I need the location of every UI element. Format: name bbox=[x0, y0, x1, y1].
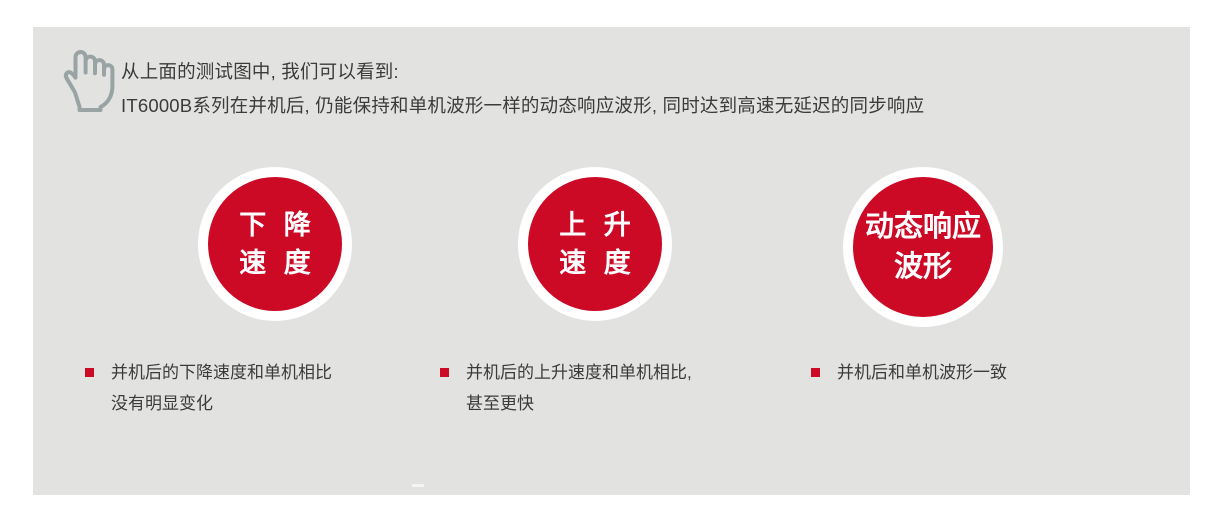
divider-dash bbox=[412, 484, 424, 487]
list-item: 并机后和单机波形一致 bbox=[811, 357, 1141, 388]
slide-canvas: 从上面的测试图中, 我们可以看到: IT6000B系列在并机后, 仍能保持和单机… bbox=[0, 0, 1227, 531]
circle-badge-fill: 动态响应 波形 bbox=[853, 177, 993, 317]
bullet-line-2: 没有明显变化 bbox=[111, 388, 332, 419]
intro-text: 从上面的测试图中, 我们可以看到: IT6000B系列在并机后, 仍能保持和单机… bbox=[121, 55, 1161, 123]
content-panel: 从上面的测试图中, 我们可以看到: IT6000B系列在并机后, 仍能保持和单机… bbox=[33, 27, 1190, 495]
bullet-square-icon bbox=[811, 368, 820, 377]
bullet-line-2: 甚至更快 bbox=[466, 388, 692, 419]
intro-line-1: 从上面的测试图中, 我们可以看到: bbox=[121, 55, 1161, 89]
circle-badge-fill: 下 降 速 度 bbox=[208, 177, 342, 311]
intro-block: 从上面的测试图中, 我们可以看到: IT6000B系列在并机后, 仍能保持和单机… bbox=[33, 27, 1190, 172]
circle-badge-fill: 上 升 速 度 bbox=[528, 177, 662, 311]
circle-badge-line-2: 速 度 bbox=[234, 244, 316, 282]
bullet-line-1: 并机后的下降速度和单机相比 bbox=[111, 363, 332, 382]
circle-badges: 下 降 速 度 上 升 速 度 动态响应 波形 bbox=[33, 167, 1190, 347]
bullet-column-3: 并机后和单机波形一致 bbox=[811, 357, 1141, 388]
circle-badge-dynamic-response-waveform: 动态响应 波形 bbox=[843, 167, 1003, 327]
bullet-text: 并机后和单机波形一致 bbox=[837, 357, 1007, 388]
bullet-column-1: 并机后的下降速度和单机相比 没有明显变化 bbox=[85, 357, 415, 419]
bullet-text: 并机后的下降速度和单机相比 没有明显变化 bbox=[111, 357, 332, 419]
bullet-column-2: 并机后的上升速度和单机相比, 甚至更快 bbox=[440, 357, 770, 419]
circle-badge-descent-speed: 下 降 速 度 bbox=[198, 167, 352, 321]
intro-line-2: IT6000B系列在并机后, 仍能保持和单机波形一样的动态响应波形, 同时达到高… bbox=[121, 89, 1161, 123]
bullet-square-icon bbox=[85, 368, 94, 377]
circle-badge-line-1: 下 降 bbox=[234, 206, 316, 244]
circle-badge-line-2: 波形 bbox=[894, 247, 952, 287]
bullet-line-1: 并机后和单机波形一致 bbox=[837, 363, 1007, 382]
pointing-hand-icon bbox=[60, 48, 118, 112]
circle-badge-line-2: 速 度 bbox=[554, 244, 636, 282]
bullet-text: 并机后的上升速度和单机相比, 甚至更快 bbox=[466, 357, 692, 419]
list-item: 并机后的下降速度和单机相比 没有明显变化 bbox=[85, 357, 415, 419]
bullet-line-1: 并机后的上升速度和单机相比, bbox=[466, 363, 692, 382]
circle-badge-line-1: 上 升 bbox=[554, 206, 636, 244]
circle-badge-line-1: 动态响应 bbox=[865, 207, 981, 247]
bullet-columns: 并机后的下降速度和单机相比 没有明显变化 并机后的上升速度和单机相比, 甚至更快 bbox=[33, 357, 1190, 457]
circle-badge-rise-speed: 上 升 速 度 bbox=[518, 167, 672, 321]
list-item: 并机后的上升速度和单机相比, 甚至更快 bbox=[440, 357, 770, 419]
bullet-square-icon bbox=[440, 368, 449, 377]
